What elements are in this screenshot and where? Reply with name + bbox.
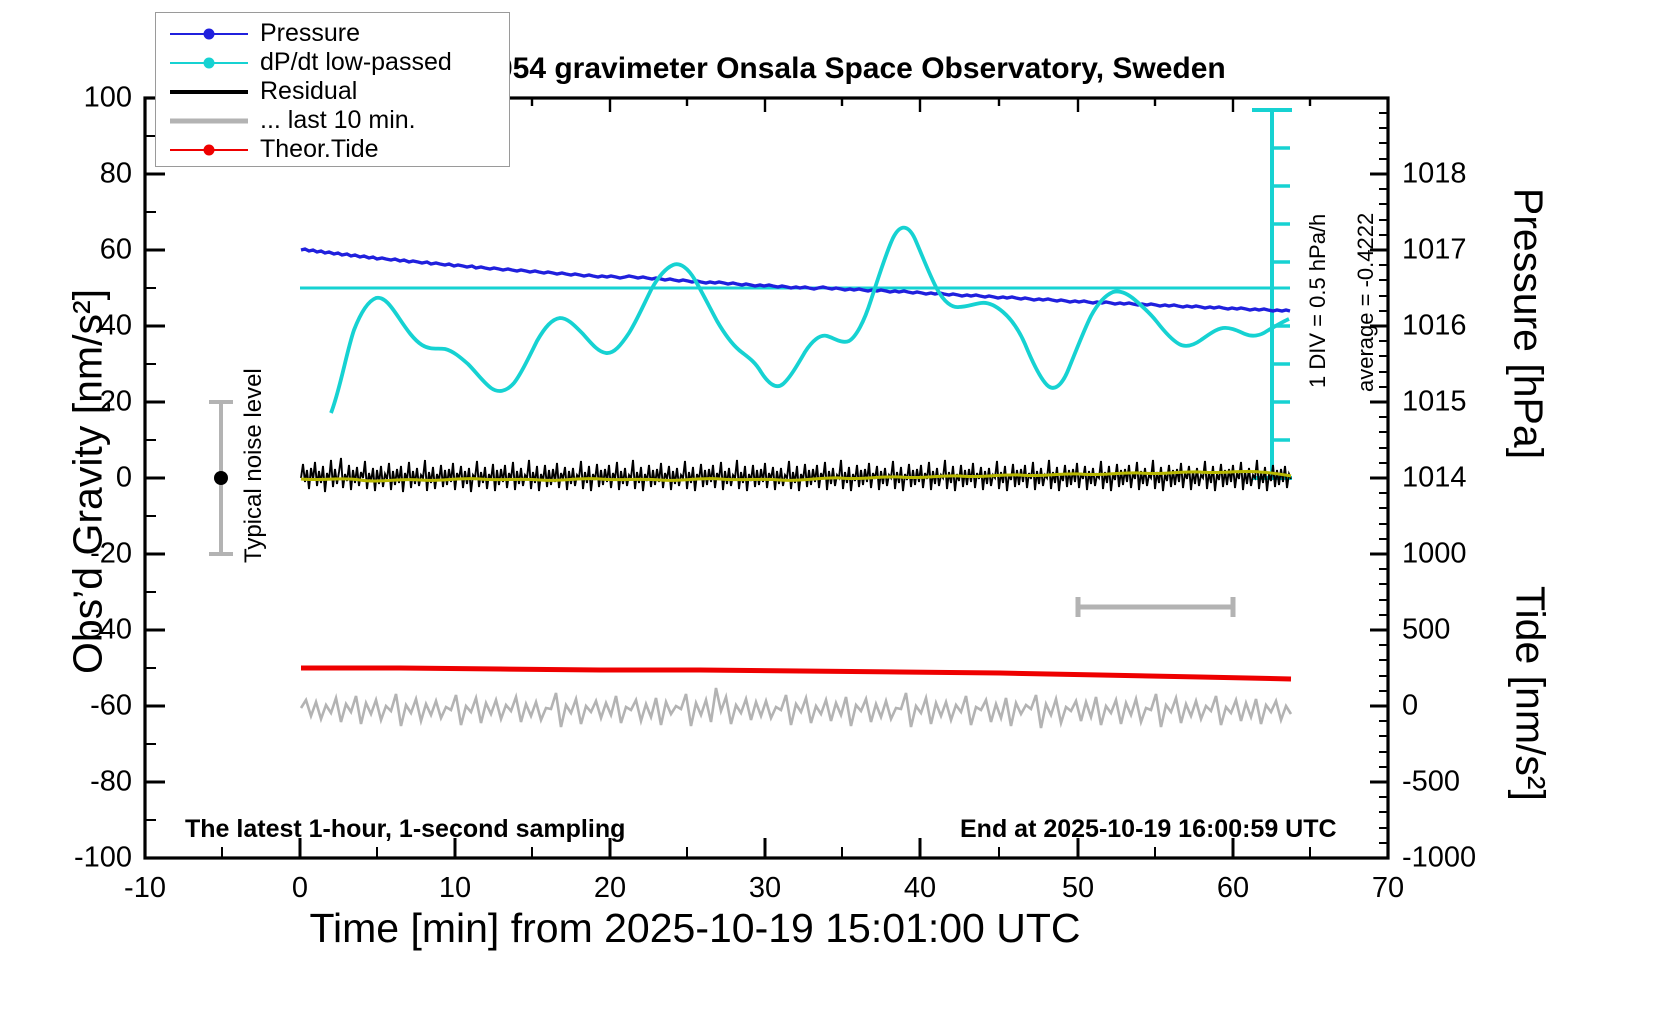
legend-item-residual[interactable]: Residual [156,77,509,106]
ytick-tide: 500 [1402,614,1450,647]
typical-noise-level-errorbar [209,402,233,554]
ytick-left: 100 [84,82,132,115]
y-axis-pressure-title: Pressure [hPa] [1505,114,1552,534]
legend-swatch-pressure [170,24,248,44]
ytick-tide: 1000 [1402,538,1467,571]
legend: Pressure dP/dt low-passed Residual ... l… [155,12,510,167]
legend-swatch-dpdt [170,53,248,73]
x-axis-title: Time [min] from 2025-10-19 15:01:00 UTC [0,905,1390,952]
xtick: 20 [594,872,626,905]
ytick-tide: 0 [1402,690,1418,723]
legend-item-dpdt[interactable]: dP/dt low-passed [156,48,509,77]
legend-label: Theor.Tide [260,135,379,164]
xtick: 60 [1217,872,1249,905]
y-axis-left-title: Obs’d Gravity [nm/s²] [65,132,112,832]
ytick-left: -100 [74,842,132,875]
series-residual [301,458,1291,492]
legend-label: ... last 10 min. [260,106,416,135]
legend-item-pressure[interactable]: Pressure [156,19,509,48]
dpdt-scale-bar [1252,110,1292,478]
typical-noise-level-label: Typical noise level [240,368,268,563]
footer-left-note: The latest 1-hour, 1-second sampling [185,815,625,844]
xtick: 50 [1062,872,1094,905]
xtick: -10 [124,872,166,905]
xtick: 0 [292,872,308,905]
average-label: average = -0.4222 [1353,213,1379,392]
legend-label: Pressure [260,19,360,48]
legend-swatch-residual [170,82,248,102]
ytick-tide: -500 [1402,766,1460,799]
last10min-scale-bar [1078,597,1233,617]
legend-swatch-last10min [170,111,248,131]
legend-item-last10min[interactable]: ... last 10 min. [156,106,509,135]
series-dpdt [331,228,1289,413]
legend-item-theor-tide[interactable]: Theor.Tide [156,135,509,164]
y-axis-tide-title: Tide [nm/s²] [1507,504,1554,884]
legend-label: Residual [260,77,357,106]
xtick: 10 [439,872,471,905]
ytick-left: 0 [116,462,132,495]
series-last10min [301,688,1291,728]
ytick-tide: -1000 [1402,842,1476,875]
div-scale-label: 1 DIV = 0.5 hPa/h [1305,214,1331,388]
series-theor-tide [301,668,1291,679]
series-pressure [301,249,1290,311]
footer-right-note: End at 2025-10-19 16:00:59 UTC [960,815,1337,844]
legend-label: dP/dt low-passed [260,48,452,77]
xtick: 70 [1372,872,1404,905]
legend-swatch-theor-tide [170,140,248,160]
xtick: 40 [904,872,936,905]
xtick: 30 [749,872,781,905]
